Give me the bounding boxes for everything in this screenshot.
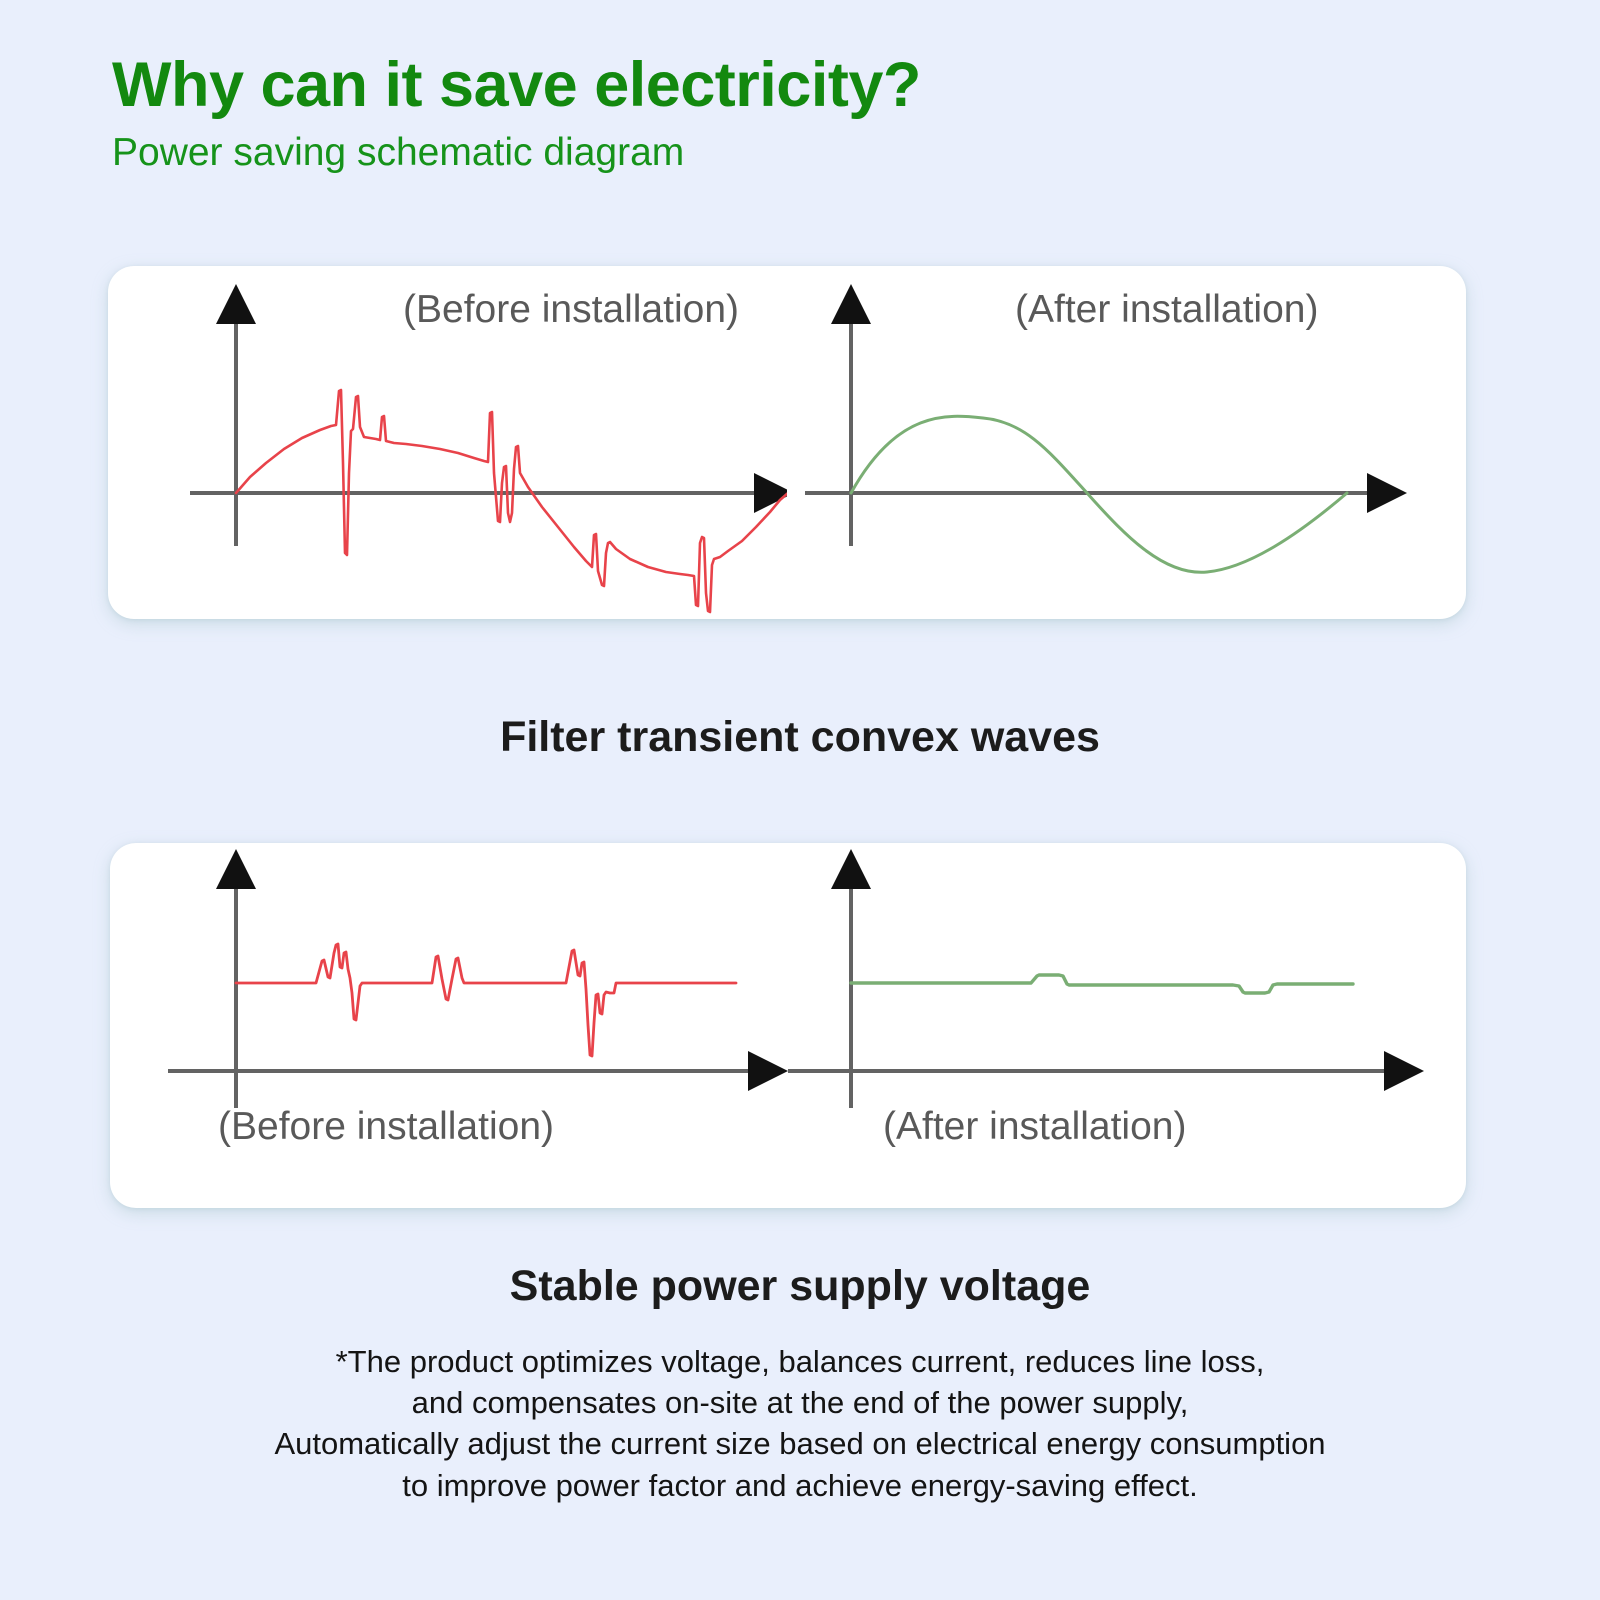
panel1-before-label: (Before installation) bbox=[403, 288, 739, 331]
footnote-block: *The product optimizes voltage, balances… bbox=[0, 1341, 1600, 1506]
panel1-after-svg: (After installation) bbox=[787, 266, 1466, 619]
panel2-before-label: (Before installation) bbox=[218, 1105, 554, 1148]
waveform-comparison-card: (Before installation) (After installatio… bbox=[108, 266, 1466, 619]
chart-panel1-after: (After installation) bbox=[787, 266, 1466, 619]
footnote-line-2: and compensates on-site at the end of th… bbox=[0, 1382, 1600, 1423]
panel2-before-svg: (Before installation) bbox=[110, 843, 788, 1208]
chart-panel2-after: (After installation) bbox=[788, 843, 1466, 1208]
voltage-stability-card: (Before installation) (After installatio… bbox=[110, 843, 1466, 1208]
panel2-before-waveform bbox=[236, 944, 736, 1056]
panel1-after-label: (After installation) bbox=[1015, 288, 1318, 331]
panel2-after-waveform bbox=[851, 975, 1353, 993]
page-subtitle: Power saving schematic diagram bbox=[112, 132, 1492, 175]
footnote-line-1: *The product optimizes voltage, balances… bbox=[0, 1341, 1600, 1382]
panel1-before-svg: (Before installation) bbox=[108, 266, 787, 619]
panel1-before-waveform bbox=[236, 390, 787, 612]
footnote-line-4: to improve power factor and achieve ener… bbox=[0, 1465, 1600, 1506]
page-header: Why can it save electricity? Power savin… bbox=[112, 52, 1492, 175]
infographic-page: Why can it save electricity? Power savin… bbox=[0, 0, 1600, 1600]
footnote-line-3: Automatically adjust the current size ba… bbox=[0, 1423, 1600, 1464]
caption-stable-power-supply-voltage: Stable power supply voltage bbox=[0, 1262, 1600, 1311]
panel2-after-svg: (After installation) bbox=[788, 843, 1466, 1208]
panel2-after-label: (After installation) bbox=[883, 1105, 1186, 1148]
page-title: Why can it save electricity? bbox=[112, 52, 1492, 118]
chart-panel2-before: (Before installation) bbox=[110, 843, 788, 1208]
caption-filter-transient-convex-waves: Filter transient convex waves bbox=[0, 713, 1600, 762]
chart-panel1-before: (Before installation) bbox=[108, 266, 787, 619]
